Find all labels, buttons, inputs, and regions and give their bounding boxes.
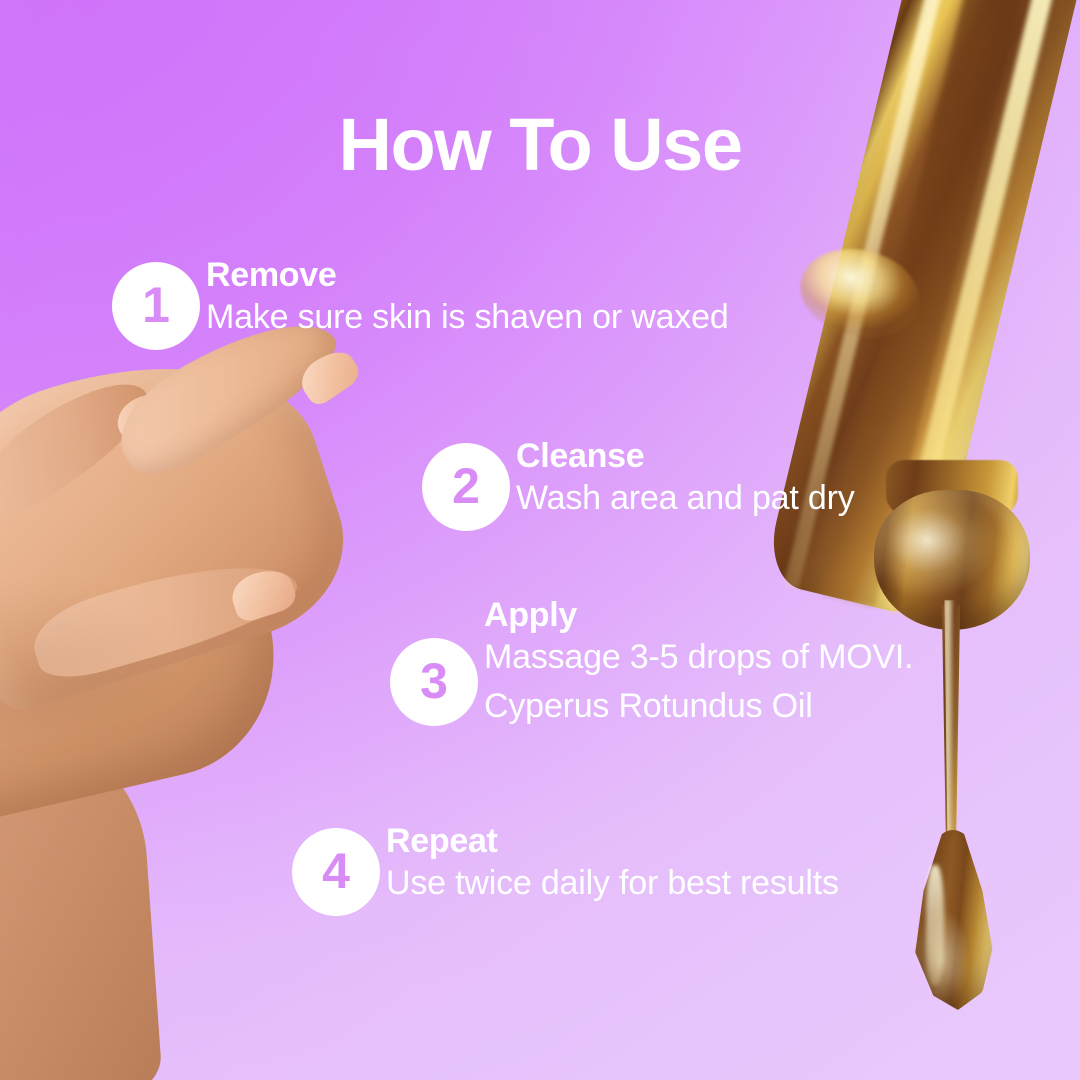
step-desc-4-line-1: Use twice daily for best results (386, 859, 839, 907)
page-title: How To Use (0, 108, 1080, 182)
step-text-1: Remove Make sure skin is shaven or waxed (206, 258, 729, 342)
step-text-2: Cleanse Wash area and pat dry (516, 439, 855, 523)
poster-canvas: How To Use 1 Remove Make sure skin is sh… (0, 0, 1080, 1080)
step-desc-1-line-1: Make sure skin is shaven or waxed (206, 293, 729, 341)
step-number-badge-4: 4 (292, 828, 380, 916)
step-text-4: Repeat Use twice daily for best results (386, 824, 839, 908)
step-title-4: Repeat (386, 824, 839, 859)
step-desc-2-line-1: Wash area and pat dry (516, 474, 855, 522)
step-desc-3-line-1: Massage 3-5 drops of MOVI. (484, 633, 913, 681)
step-title-1: Remove (206, 258, 729, 293)
step-number-badge-2: 2 (422, 443, 510, 531)
step-title-2: Cleanse (516, 439, 855, 474)
step-number-badge-3: 3 (390, 638, 478, 726)
step-number-badge-1: 1 (112, 262, 200, 350)
content-layer: How To Use 1 Remove Make sure skin is sh… (0, 0, 1080, 1080)
step-desc-3-line-2: Cyperus Rotundus Oil (484, 682, 913, 730)
step-text-3: Apply Massage 3-5 drops of MOVI. Cyperus… (484, 598, 913, 730)
step-title-3: Apply (484, 598, 913, 633)
